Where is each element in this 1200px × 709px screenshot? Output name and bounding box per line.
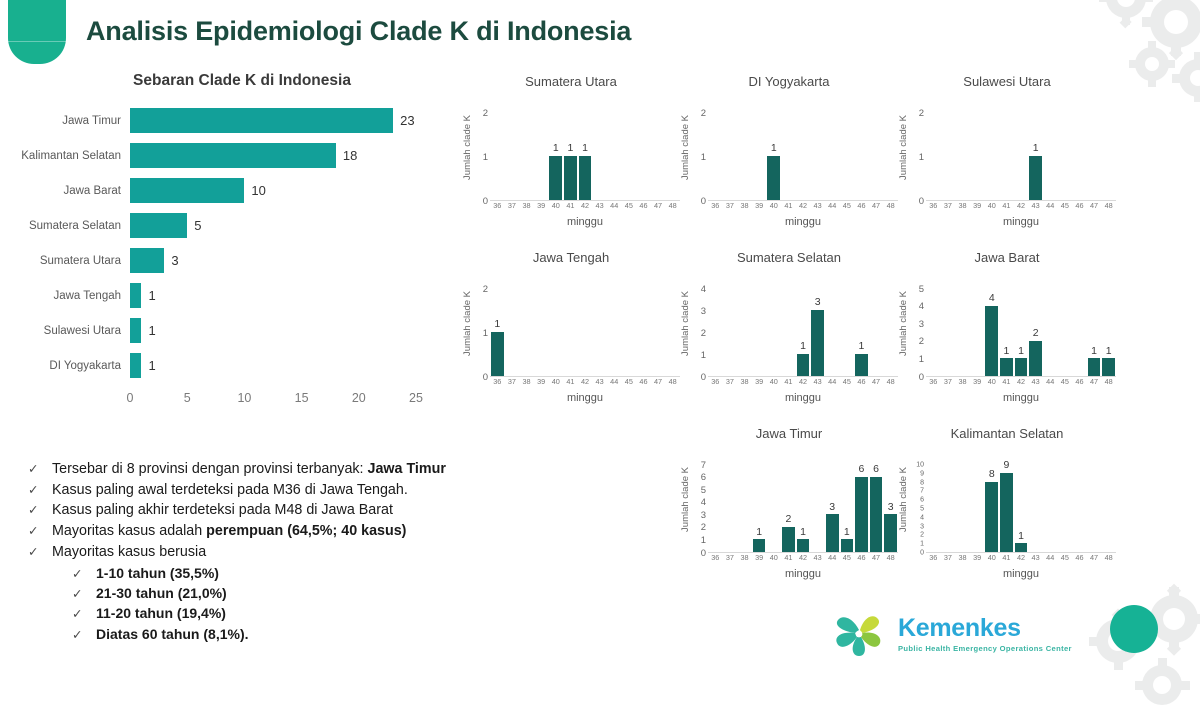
- sub-list-item-text: 11-20 tahun (19,4%): [96, 604, 226, 623]
- y-tick-label: 0: [919, 196, 924, 206]
- chart-title: Jawa Barat: [898, 250, 1116, 265]
- x-tick-label: 46: [857, 202, 865, 209]
- list-item-text: Kasus paling awal terdeteksi pada M36 di…: [52, 481, 408, 501]
- x-tick-label: 45: [625, 202, 633, 209]
- y-tick-label: 1: [701, 350, 706, 360]
- y-tick-label: 2: [483, 284, 488, 294]
- bar-value-label: 2: [1033, 328, 1039, 340]
- x-tick-label: 41: [1002, 202, 1010, 209]
- bar-column: 6: [855, 464, 868, 552]
- y-tick-label: 2: [919, 108, 924, 118]
- bar-category-label: DI Yogyakarta: [14, 360, 130, 372]
- x-axis-label: minggu: [490, 392, 680, 404]
- y-tick-label: 2: [919, 337, 924, 347]
- y-tick-label: 2: [920, 532, 924, 539]
- list-item: ✓Tersebar di 8 provinsi dengan provinsi …: [28, 460, 548, 480]
- y-tick-label: 9: [920, 470, 924, 477]
- x-tick-label: 47: [1090, 378, 1098, 385]
- y-tick-label: 10: [916, 462, 924, 469]
- x-tick-label: 43: [1032, 378, 1040, 385]
- bar-value-label: 1: [1106, 346, 1112, 358]
- x-tick-label: 40: [770, 378, 778, 385]
- y-axis-ticks: 012: [912, 93, 926, 201]
- list-item: ✓Kasus paling akhir terdeteksi pada M48 …: [28, 501, 548, 521]
- bar-column: 1: [564, 143, 577, 200]
- y-axis-ticks: 012345: [912, 269, 926, 377]
- x-tick-label: 43: [596, 202, 604, 209]
- y-axis-ticks: 01234: [694, 269, 708, 377]
- x-axis-ticks: 36373839404142434445464748: [926, 377, 1116, 390]
- sub-list-item: ✓11-20 tahun (19,4%): [72, 604, 548, 623]
- province-chart-jawa-tengah: Jawa TengahJumlah clade K012136373839404…: [462, 250, 680, 426]
- bar-column: 1: [1088, 346, 1101, 376]
- logo-subtitle: Public Health Emergency Operations Cente…: [898, 644, 1072, 653]
- x-tick-label: 40: [552, 378, 560, 385]
- sub-list-item: ✓1-10 tahun (35,5%): [72, 564, 548, 583]
- x-axis-label: minggu: [708, 568, 898, 580]
- bar-row: DI Yogyakarta1: [14, 348, 444, 383]
- bar-category-label: Sulawesi Utara: [14, 325, 130, 337]
- bar: [1000, 358, 1013, 376]
- sebaran-clade-chart: Sebaran Clade K di Indonesia Jawa Timur2…: [14, 72, 444, 409]
- bar-value-label: 9: [1003, 460, 1009, 472]
- y-tick-label: 6: [701, 473, 706, 483]
- bar: [782, 527, 795, 552]
- y-tick-label: 5: [920, 506, 924, 513]
- x-tick-label: 44: [1046, 202, 1054, 209]
- x-tick-label: 47: [654, 378, 662, 385]
- x-tick-label: 39: [973, 202, 981, 209]
- bar-category-label: Kalimantan Selatan: [14, 150, 130, 162]
- province-chart-sumatera-selatan: Sumatera SelatanJumlah clade K0123413136…: [680, 250, 898, 426]
- x-tick-label: 40: [988, 202, 996, 209]
- x-tick-label: 5: [184, 391, 191, 405]
- shield-logo-icon: [8, 0, 66, 64]
- bar: [985, 482, 998, 552]
- x-tick-label: 47: [872, 378, 880, 385]
- bar: [491, 332, 504, 376]
- bar-value-label: 10: [251, 183, 265, 198]
- list-item: ✓Mayoritas kasus berusia: [28, 543, 548, 563]
- bar-value-label: 1: [756, 527, 762, 539]
- x-tick-label: 39: [755, 202, 763, 209]
- check-icon: ✓: [72, 606, 96, 621]
- x-tick-label: 38: [740, 378, 748, 385]
- bar-column: 2: [1029, 328, 1042, 376]
- bar-row: Sumatera Selatan5: [14, 208, 444, 243]
- y-tick-label: 4: [920, 514, 924, 521]
- x-tick-label: 36: [929, 202, 937, 209]
- x-tick-label: 38: [958, 202, 966, 209]
- x-tick-label: 47: [654, 202, 662, 209]
- x-tick-label: 36: [711, 378, 719, 385]
- y-tick-label: 0: [701, 548, 706, 558]
- x-tick-label: 48: [669, 378, 677, 385]
- x-tick-label: 37: [508, 378, 516, 385]
- x-tick-label: 40: [988, 378, 996, 385]
- bar: [130, 178, 244, 203]
- x-axis-ticks: 36373839404142434445464748: [708, 553, 898, 566]
- x-tick-label: 37: [726, 202, 734, 209]
- bar-column: 1: [841, 527, 854, 552]
- bar: [579, 156, 592, 200]
- y-tick-label: 3: [701, 306, 706, 316]
- x-tick-label: 38: [740, 554, 748, 561]
- y-tick-label: 0: [701, 196, 706, 206]
- sub-list-item: ✓Diatas 60 tahun (8,1%).: [72, 625, 548, 644]
- bar-value-label: 3: [829, 502, 835, 514]
- bar-value-label: 1: [1033, 143, 1039, 155]
- bar: [1102, 358, 1115, 376]
- y-tick-label: 7: [920, 488, 924, 495]
- bar-column: 1: [1102, 346, 1115, 376]
- x-tick-label: 45: [1061, 554, 1069, 561]
- bar-value-label: 1: [800, 341, 806, 353]
- y-axis-label: Jumlah clade K: [898, 115, 912, 180]
- x-tick-label: 38: [958, 554, 966, 561]
- bar-value-label: 23: [400, 113, 414, 128]
- bar-category-label: Jawa Tengah: [14, 290, 130, 302]
- x-tick-label: 42: [799, 378, 807, 385]
- bar-value-label: 1: [148, 288, 155, 303]
- plot-area: 1: [926, 93, 1116, 201]
- x-tick-label: 39: [973, 378, 981, 385]
- chart-title: Kalimantan Selatan: [898, 426, 1116, 441]
- x-axis-label: minggu: [926, 216, 1116, 228]
- x-tick-label: 40: [988, 554, 996, 561]
- plot-area: 12131663: [708, 445, 898, 553]
- y-tick-label: 1: [701, 536, 706, 546]
- bar: [797, 539, 810, 552]
- y-tick-label: 0: [483, 196, 488, 206]
- x-tick-label: 36: [493, 202, 501, 209]
- plot-area: 1: [708, 93, 898, 201]
- x-tick-label: 47: [872, 554, 880, 561]
- list-item-text: Mayoritas kasus adalah perempuan (64,5%;…: [52, 522, 406, 542]
- y-tick-label: 0: [483, 372, 488, 382]
- bar-value-label: 4: [989, 293, 995, 305]
- bar: [130, 213, 187, 238]
- sub-list-item-text: Diatas 60 tahun (8,1%).: [96, 625, 249, 644]
- chart-title: Sumatera Selatan: [680, 250, 898, 265]
- x-tick-label: 47: [1090, 554, 1098, 561]
- x-tick-label: 38: [522, 378, 530, 385]
- bar-column: 1: [1015, 531, 1028, 552]
- bar-value-label: 1: [800, 527, 806, 539]
- bar: [1015, 358, 1028, 376]
- x-tick-label: 39: [755, 554, 763, 561]
- check-icon: ✓: [28, 502, 52, 517]
- x-tick-label: 47: [872, 202, 880, 209]
- check-icon: ✓: [72, 566, 96, 581]
- bar-value-label: 6: [873, 464, 879, 476]
- kemenkes-logo: Kemenkes Public Health Emergency Operati…: [828, 608, 1072, 660]
- bar-column: 3: [826, 502, 839, 552]
- y-tick-label: 8: [920, 479, 924, 486]
- x-tick-label: 39: [537, 202, 545, 209]
- y-tick-label: 4: [701, 498, 706, 508]
- page-title: Analisis Epidemiologi Clade K di Indones…: [86, 16, 631, 47]
- x-tick-label: 48: [1105, 378, 1113, 385]
- x-tick-label: 38: [958, 378, 966, 385]
- bar: [855, 354, 868, 376]
- x-tick-label: 45: [1061, 378, 1069, 385]
- x-tick-label: 48: [1105, 202, 1113, 209]
- x-tick-label: 37: [726, 554, 734, 561]
- x-tick-label: 39: [537, 378, 545, 385]
- plot-area: 891: [926, 445, 1116, 553]
- bar-category-label: Jawa Barat: [14, 185, 130, 197]
- bar-row: Jawa Tengah1: [14, 278, 444, 313]
- bar-rows: Jawa Timur23Kalimantan Selatan18Jawa Bar…: [14, 103, 444, 383]
- x-tick-label: 36: [711, 554, 719, 561]
- x-tick-label: 48: [887, 202, 895, 209]
- x-tick-label: 44: [1046, 554, 1054, 561]
- x-tick-label: 45: [843, 202, 851, 209]
- y-tick-label: 3: [919, 319, 924, 329]
- x-tick-label: 45: [843, 554, 851, 561]
- y-axis-label: Jumlah clade K: [680, 291, 694, 356]
- bar: [870, 477, 883, 552]
- x-tick-label: 36: [929, 554, 937, 561]
- y-axis-ticks: 012345678910: [912, 445, 926, 553]
- x-axis-ticks: 36373839404142434445464748: [490, 377, 680, 390]
- x-tick-label: 48: [669, 202, 677, 209]
- bar-column: 6: [870, 464, 883, 552]
- y-axis-ticks: 01234567: [694, 445, 708, 553]
- bar: [130, 143, 336, 168]
- bar-column: 1: [855, 341, 868, 376]
- x-tick-label: 45: [625, 378, 633, 385]
- x-tick-label: 36: [929, 378, 937, 385]
- x-tick-label: 48: [887, 378, 895, 385]
- x-tick-label: 42: [581, 378, 589, 385]
- bar: [130, 283, 141, 308]
- bar-row: Kalimantan Selatan18: [14, 138, 444, 173]
- y-axis-label: Jumlah clade K: [462, 115, 476, 180]
- x-axis-label: minggu: [490, 216, 680, 228]
- x-tick-label: 36: [493, 378, 501, 385]
- y-axis-label: Jumlah clade K: [462, 291, 476, 356]
- y-axis-ticks: 012: [476, 93, 490, 201]
- bar-row: Sulawesi Utara1: [14, 313, 444, 348]
- x-tick-label: 42: [799, 202, 807, 209]
- x-tick-label: 44: [828, 554, 836, 561]
- bar-category-label: Sumatera Selatan: [14, 220, 130, 232]
- y-tick-label: 0: [919, 372, 924, 382]
- bar: [767, 156, 780, 200]
- y-tick-label: 2: [483, 108, 488, 118]
- bar-row: Jawa Timur23: [14, 103, 444, 138]
- bar-value-label: 1: [1018, 531, 1024, 543]
- x-tick-label: 41: [1002, 378, 1010, 385]
- x-tick-label: 0: [127, 391, 134, 405]
- x-tick-label: 44: [610, 378, 618, 385]
- bar-column: 9: [1000, 460, 1013, 552]
- bar-column: 1: [491, 319, 504, 376]
- bar: [855, 477, 868, 552]
- check-icon: ✓: [28, 461, 52, 476]
- y-tick-label: 1: [919, 355, 924, 365]
- x-tick-label: 48: [887, 554, 895, 561]
- bar: [1000, 473, 1013, 552]
- x-tick-label: 42: [1017, 202, 1025, 209]
- bar-column: 2: [782, 514, 795, 552]
- bar-column: 1: [1029, 143, 1042, 200]
- y-tick-label: 2: [701, 523, 706, 533]
- x-tick-label: 41: [784, 202, 792, 209]
- x-tick-label: 43: [1032, 202, 1040, 209]
- check-icon: ✓: [28, 544, 52, 559]
- x-tick-label: 37: [508, 202, 516, 209]
- bar: [130, 108, 393, 133]
- bar: [985, 306, 998, 376]
- bar-row: Jawa Barat10: [14, 173, 444, 208]
- check-icon: ✓: [72, 586, 96, 601]
- check-icon: ✓: [72, 627, 96, 642]
- x-tick-label: 43: [814, 378, 822, 385]
- list-item-text: Tersebar di 8 provinsi dengan provinsi t…: [52, 460, 446, 480]
- y-axis-label: Jumlah clade K: [680, 115, 694, 180]
- x-tick-label: 44: [828, 378, 836, 385]
- y-tick-label: 5: [701, 485, 706, 495]
- y-tick-label: 1: [483, 152, 488, 162]
- list-item: ✓Kasus paling awal terdeteksi pada M36 d…: [28, 481, 548, 501]
- chart-title: Sulawesi Utara: [898, 74, 1116, 89]
- x-tick-label: 41: [784, 554, 792, 561]
- bar: [1015, 543, 1028, 552]
- bar: [1088, 358, 1101, 376]
- bar-value-label: 1: [148, 323, 155, 338]
- y-tick-label: 0: [701, 372, 706, 382]
- x-tick-label: 37: [944, 554, 952, 561]
- x-tick-label: 46: [639, 202, 647, 209]
- bar-column: 1: [579, 143, 592, 200]
- x-tick-label: 39: [755, 378, 763, 385]
- x-tick-label: 46: [1075, 554, 1083, 561]
- x-tick-label: 41: [566, 202, 574, 209]
- bar-category-label: Jawa Timur: [14, 115, 130, 127]
- x-tick-label: 40: [770, 202, 778, 209]
- x-tick-label: 47: [1090, 202, 1098, 209]
- province-chart-jawa-barat: Jawa BaratJumlah clade K0123454112113637…: [898, 250, 1116, 426]
- bar-value-label: 3: [888, 502, 894, 514]
- bar: [753, 539, 766, 552]
- bar-value-label: 1: [1003, 346, 1009, 358]
- x-tick-label: 46: [857, 554, 865, 561]
- bar-value-label: 5: [194, 218, 201, 233]
- x-tick-label: 43: [596, 378, 604, 385]
- x-tick-label: 48: [1105, 554, 1113, 561]
- bar-value-label: 1: [582, 143, 588, 155]
- x-tick-label: 20: [352, 391, 366, 405]
- check-icon: ✓: [28, 523, 52, 538]
- list-item-text: Mayoritas kasus berusia: [52, 543, 206, 563]
- x-axis-label: minggu: [926, 392, 1116, 404]
- kemenkes-pinwheel-icon: [828, 608, 890, 660]
- bar-value-label: 1: [859, 341, 865, 353]
- province-chart-sulawesi-utara: Sulawesi UtaraJumlah clade K012136373839…: [898, 74, 1116, 250]
- x-tick-label: 46: [1075, 202, 1083, 209]
- bar-category-label: Sumatera Utara: [14, 255, 130, 267]
- sub-list-item-text: 1-10 tahun (35,5%): [96, 564, 219, 583]
- x-tick-label: 46: [639, 378, 647, 385]
- bar: [130, 353, 141, 378]
- x-tick-label: 40: [770, 554, 778, 561]
- bar: [564, 156, 577, 200]
- y-tick-label: 4: [919, 302, 924, 312]
- bar-value-label: 18: [343, 148, 357, 163]
- x-tick-label: 44: [1046, 378, 1054, 385]
- x-tick-label: 36: [711, 202, 719, 209]
- chart-title: Sumatera Utara: [462, 74, 680, 89]
- bar: [1029, 341, 1042, 376]
- x-tick-label: 43: [1032, 554, 1040, 561]
- list-item-text: Kasus paling akhir terdeteksi pada M48 d…: [52, 501, 393, 521]
- x-axis-ticks: 36373839404142434445464748: [708, 201, 898, 214]
- x-axis-ticks: 36373839404142434445464748: [926, 201, 1116, 214]
- bar: [811, 310, 824, 376]
- y-tick-label: 0: [920, 550, 924, 557]
- x-axis-label: minggu: [926, 568, 1116, 580]
- y-tick-label: 1: [483, 328, 488, 338]
- bar: [130, 248, 164, 273]
- bar-column: 1: [753, 527, 766, 552]
- province-chart-sumatera-utara: Sumatera UtaraJumlah clade K012111363738…: [462, 74, 680, 250]
- x-tick-label: 45: [1061, 202, 1069, 209]
- y-axis-ticks: 012: [476, 269, 490, 377]
- x-axis-label: minggu: [708, 216, 898, 228]
- bar-value-label: 1: [1018, 346, 1024, 358]
- x-axis-ticks: 36373839404142434445464748: [708, 377, 898, 390]
- bar-value-label: 1: [567, 143, 573, 155]
- y-axis-ticks: 012: [694, 93, 708, 201]
- bar-row: Sumatera Utara3: [14, 243, 444, 278]
- y-tick-label: 2: [701, 328, 706, 338]
- plot-area: 411211: [926, 269, 1116, 377]
- bar: [884, 514, 897, 552]
- bar-value-label: 2: [785, 514, 791, 526]
- bar: [841, 539, 854, 552]
- list-item: ✓Mayoritas kasus adalah perempuan (64,5%…: [28, 522, 548, 542]
- chart-title: Jawa Tengah: [462, 250, 680, 265]
- x-tick-label: 42: [1017, 554, 1025, 561]
- plot-area: 131: [708, 269, 898, 377]
- y-tick-label: 2: [701, 108, 706, 118]
- bar-value-label: 3: [171, 253, 178, 268]
- x-tick-label: 15: [295, 391, 309, 405]
- bar-value-label: 8: [989, 469, 995, 481]
- bar-column: 1: [797, 341, 810, 376]
- x-axis-label: minggu: [708, 392, 898, 404]
- bar-column: 8: [985, 469, 998, 552]
- bar-column: 3: [811, 297, 824, 376]
- x-tick-label: 42: [1017, 378, 1025, 385]
- bar-column: 3: [884, 502, 897, 552]
- bar-value-label: 1: [148, 358, 155, 373]
- bar-column: 1: [1015, 346, 1028, 376]
- y-tick-label: 4: [701, 284, 706, 294]
- x-tick-label: 37: [944, 378, 952, 385]
- province-chart-di-yogyakarta: DI YogyakartaJumlah clade K0121363738394…: [680, 74, 898, 250]
- sub-list-item: ✓21-30 tahun (21,0%): [72, 584, 548, 603]
- y-tick-label: 1: [701, 152, 706, 162]
- x-tick-label: 44: [610, 202, 618, 209]
- x-axis-ticks: 36373839404142434445464748: [926, 553, 1116, 566]
- sub-list-item-text: 21-30 tahun (21,0%): [96, 584, 227, 603]
- findings-list: ✓Tersebar di 8 provinsi dengan provinsi …: [28, 460, 548, 645]
- y-tick-label: 3: [701, 511, 706, 521]
